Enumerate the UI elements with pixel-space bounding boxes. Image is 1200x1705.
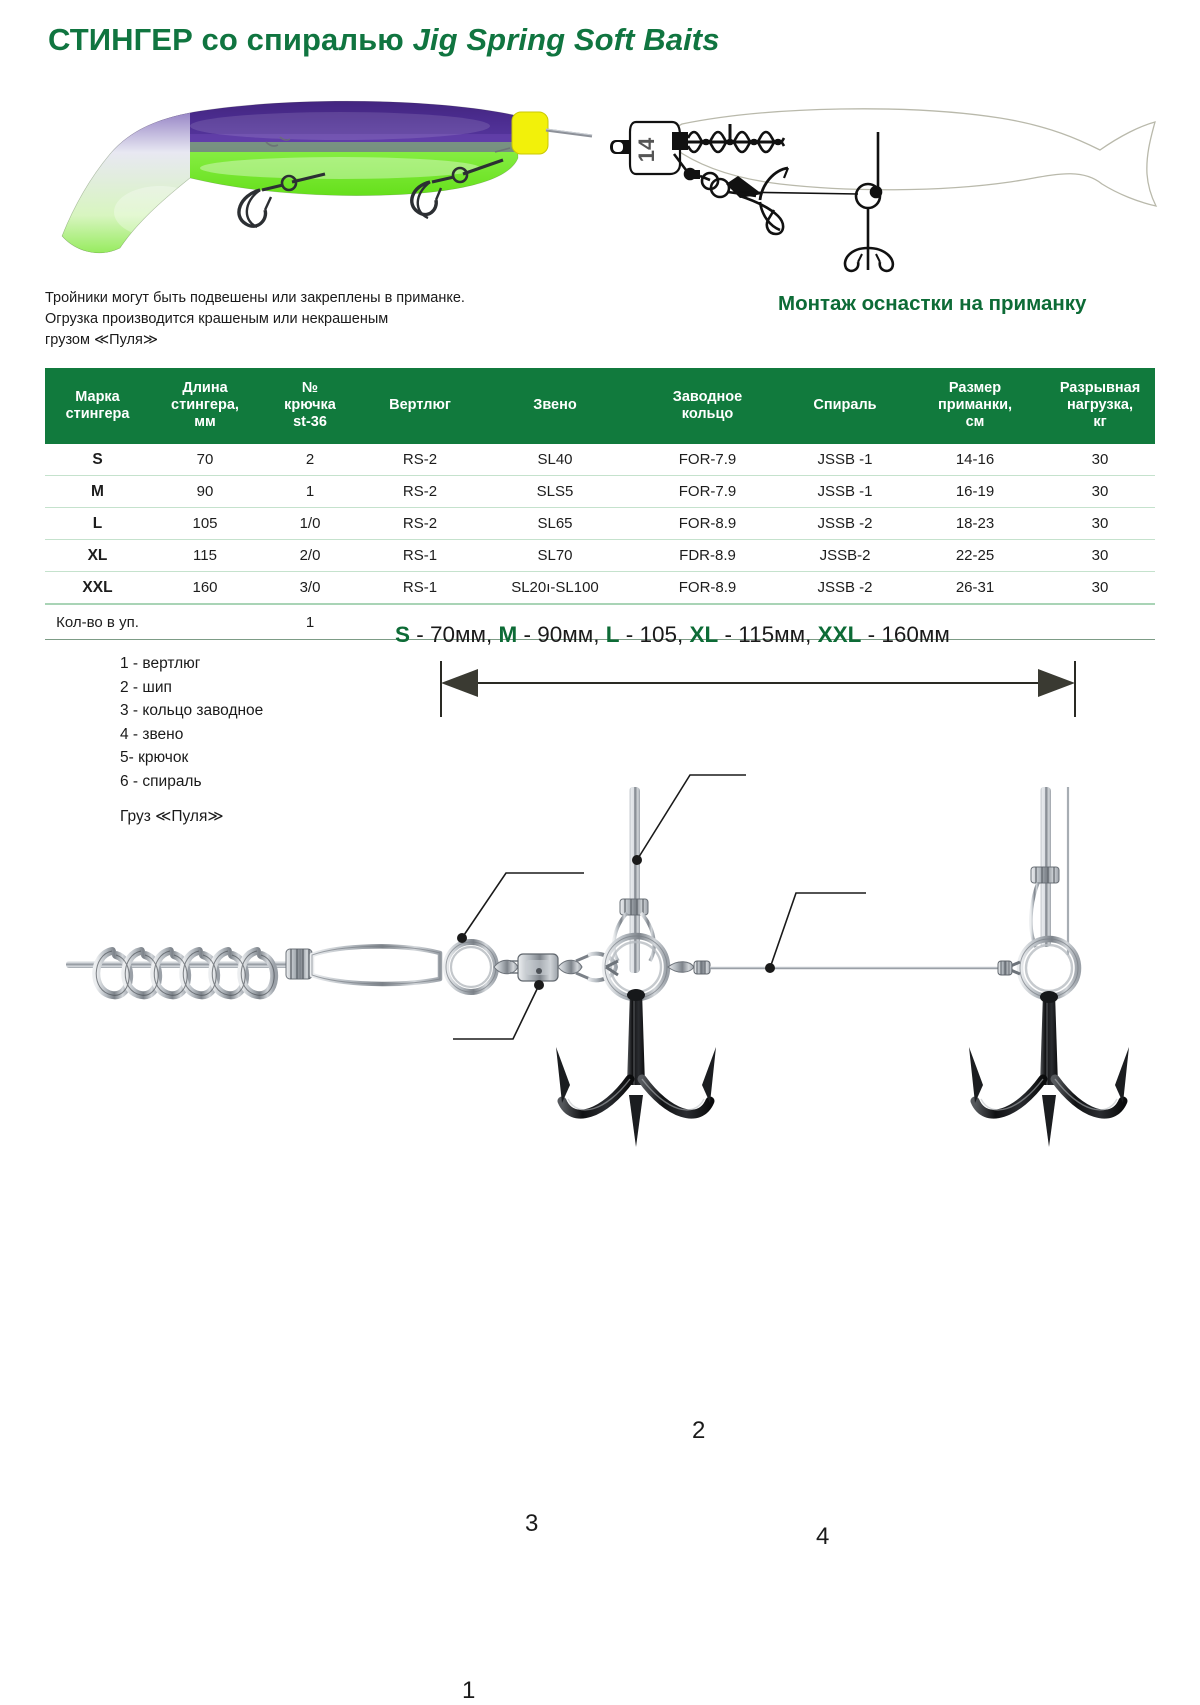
cell-swivel: RS-2 (360, 444, 480, 476)
note-line-1: Тройники могут быть подвешены или закреп… (45, 288, 585, 309)
col-header-hook-no: № крючка st-36 (260, 368, 360, 444)
col-header-brand: Марка стингера (45, 368, 150, 444)
treble-hook-schematic-rear (845, 184, 893, 271)
cell-spiral: JSSB-2 (785, 540, 905, 572)
page-title: СТИНГЕР со спиралью Jig Spring Soft Bait… (48, 22, 1148, 58)
dimension-line (441, 661, 1075, 717)
mount-schematic: 14 (610, 88, 1170, 273)
spec-table-head: Марка стингера Длина стингера, мм № крюч… (45, 368, 1155, 444)
cell-length: 160 (150, 572, 260, 605)
cell-bait-size: 18-23 (905, 508, 1045, 540)
note-block: Тройники могут быть подвешены или закреп… (45, 288, 585, 351)
middle-ring-assembly (605, 787, 710, 998)
cell-swivel: RS-2 (360, 476, 480, 508)
cell-bait-size: 16-19 (905, 476, 1045, 508)
col-header-swivel: Вертлюг (360, 368, 480, 444)
col-header-bait-size: Размер приманки, см (905, 368, 1045, 444)
table-row: S 70 2 RS-2 SL40 FOR-7.9 JSSB -1 14-16 3… (45, 444, 1155, 476)
cell-brand: M (45, 476, 150, 508)
lure-nose-cone (512, 112, 548, 154)
cell-link: SL20ı-SL100 (480, 572, 630, 605)
cell-length: 70 (150, 444, 260, 476)
cell-split-ring: FOR-8.9 (630, 508, 785, 540)
cell-breaking-load: 30 (1045, 572, 1155, 605)
table-row: M 90 1 RS-2 SLS5 FOR-7.9 JSSB -1 16-19 3… (45, 476, 1155, 508)
treble-hook-right (969, 991, 1129, 1147)
cell-spiral: JSSB -1 (785, 476, 905, 508)
lure-photo (40, 82, 600, 267)
cell-brand: XXL (45, 572, 150, 605)
size-value-m: - 90мм, (517, 622, 605, 647)
rig-diagram: 3 2 1 4 (0, 655, 1200, 1200)
size-value-s: - 70мм, (410, 622, 498, 647)
cell-spiral: JSSB -1 (785, 444, 905, 476)
cell-swivel: RS-1 (360, 572, 480, 605)
callout-number-1: 1 (462, 1677, 475, 1705)
size-code-xl: XL (690, 622, 719, 647)
sizes-line: S - 70мм, M - 90мм, L - 105, XL - 115мм,… (395, 622, 1155, 648)
cell-breaking-load: 30 (1045, 444, 1155, 476)
cell-length: 115 (150, 540, 260, 572)
pack-qty-value: 1 (260, 604, 360, 640)
cell-link: SL65 (480, 508, 630, 540)
spike-shaft (629, 787, 640, 973)
cell-breaking-load: 30 (1045, 476, 1155, 508)
col-header-split-ring: Заводное кольцо (630, 368, 785, 444)
cell-link: SLS5 (480, 476, 630, 508)
cell-split-ring: FOR-8.9 (630, 572, 785, 605)
size-code-s: S (395, 622, 410, 647)
spec-table-header-row: Марка стингера Длина стингера, мм № крюч… (45, 368, 1155, 444)
cell-brand: XL (45, 540, 150, 572)
callout-number-4: 4 (816, 1523, 829, 1551)
swivel (494, 954, 616, 981)
treble-hook-middle (556, 989, 716, 1147)
cell-swivel: RS-2 (360, 508, 480, 540)
cell-split-ring: FOR-7.9 (630, 476, 785, 508)
table-row: XXL 160 3/0 RS-1 SL20ı-SL100 FOR-8.9 JSS… (45, 572, 1155, 605)
page-title-main: СТИНГЕР со спиралью (48, 22, 413, 57)
cell-hook-no: 1/0 (260, 508, 360, 540)
cell-breaking-load: 30 (1045, 508, 1155, 540)
pack-qty-label: Кол-во в уп. (45, 604, 150, 640)
size-code-m: M (498, 622, 517, 647)
cell-hook-no: 2/0 (260, 540, 360, 572)
spiral-corkscrew (66, 946, 440, 995)
mount-schematic-title: Монтаж оснастки на приманку (778, 292, 1178, 316)
cell-hook-no: 1 (260, 476, 360, 508)
table-row: XL 115 2/0 RS-1 SL70 FDR-8.9 JSSB-2 22-2… (45, 540, 1155, 572)
cell-brand: S (45, 444, 150, 476)
cell-split-ring: FOR-7.9 (630, 444, 785, 476)
cell-spiral: JSSB -2 (785, 572, 905, 605)
col-header-breaking-load: Разрывная нагрузка, кг (1045, 368, 1155, 444)
weight-size-label: 14 (634, 137, 659, 162)
size-value-xl: - 115мм, (718, 622, 817, 647)
note-line-2: Огрузка производится крашеным или некраш… (45, 309, 585, 330)
col-header-link: Звено (480, 368, 630, 444)
cell-spiral: JSSB -2 (785, 508, 905, 540)
size-code-l: L (606, 622, 620, 647)
cell-split-ring: FDR-8.9 (630, 540, 785, 572)
note-line-3: грузом ≪Пуля≫ (45, 330, 585, 351)
cell-bait-size: 26-31 (905, 572, 1045, 605)
col-header-length: Длина стингера, мм (150, 368, 260, 444)
split-ring (446, 942, 496, 992)
spec-table-body: S 70 2 RS-2 SL40 FOR-7.9 JSSB -1 14-16 3… (45, 444, 1155, 604)
spec-table: Марка стингера Длина стингера, мм № крюч… (45, 368, 1155, 640)
cell-bait-size: 22-25 (905, 540, 1045, 572)
cell-hook-no: 2 (260, 444, 360, 476)
cell-length: 105 (150, 508, 260, 540)
callout-number-3: 3 (525, 1510, 538, 1538)
callout-number-2: 2 (692, 1417, 705, 1445)
col-header-spiral: Спираль (785, 368, 905, 444)
cell-link: SL70 (480, 540, 630, 572)
cell-brand: L (45, 508, 150, 540)
size-value-l: - 105, (619, 622, 689, 647)
cell-link: SL40 (480, 444, 630, 476)
right-ring-assembly (998, 787, 1078, 997)
cell-bait-size: 14-16 (905, 444, 1045, 476)
size-value-xxl: - 160мм (861, 622, 949, 647)
page-title-brand: Jig Spring Soft Baits (413, 22, 720, 57)
cell-length: 90 (150, 476, 260, 508)
table-row: L 105 1/0 RS-2 SL65 FOR-8.9 JSSB -2 18-2… (45, 508, 1155, 540)
cell-swivel: RS-1 (360, 540, 480, 572)
cell-hook-no: 3/0 (260, 572, 360, 605)
cell-breaking-load: 30 (1045, 540, 1155, 572)
size-code-xxl: XXL (818, 622, 862, 647)
